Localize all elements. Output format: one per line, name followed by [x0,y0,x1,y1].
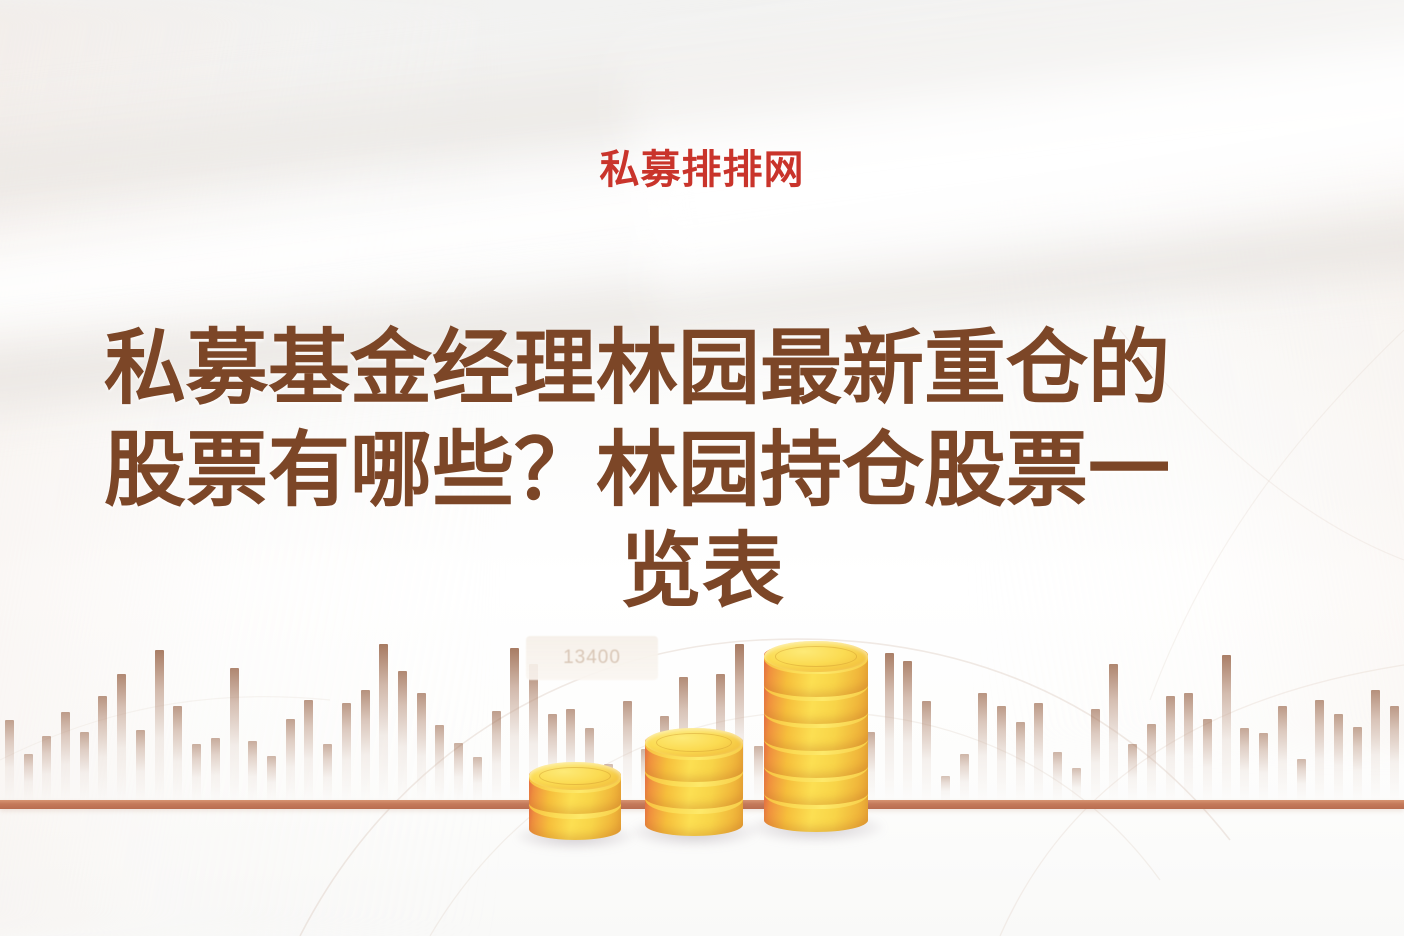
medium-stack [645,726,743,836]
site-logo: 私募排排网 [0,150,1404,190]
coin-top-face [764,641,868,672]
page-title-line-3: 览表 [104,521,1300,623]
page-title-line-1: 私募基金经理林园最新重仓的 [104,318,1300,420]
coin-top-face [645,728,743,757]
page-title: 私募基金经理林园最新重仓的 股票有哪些？林园持仓股票一 览表 [104,318,1300,623]
background-band-top [0,0,1404,254]
page-title-line-2: 股票有哪些？林园持仓股票一 [104,420,1300,522]
small-stack [529,760,621,840]
coin-top-face [529,762,621,790]
coin-stacks [0,636,1404,936]
large-stack [764,639,868,832]
poster-canvas: 私募排排网 私募基金经理林园最新重仓的 股票有哪些？林园持仓股票一 览表 134… [0,0,1404,936]
